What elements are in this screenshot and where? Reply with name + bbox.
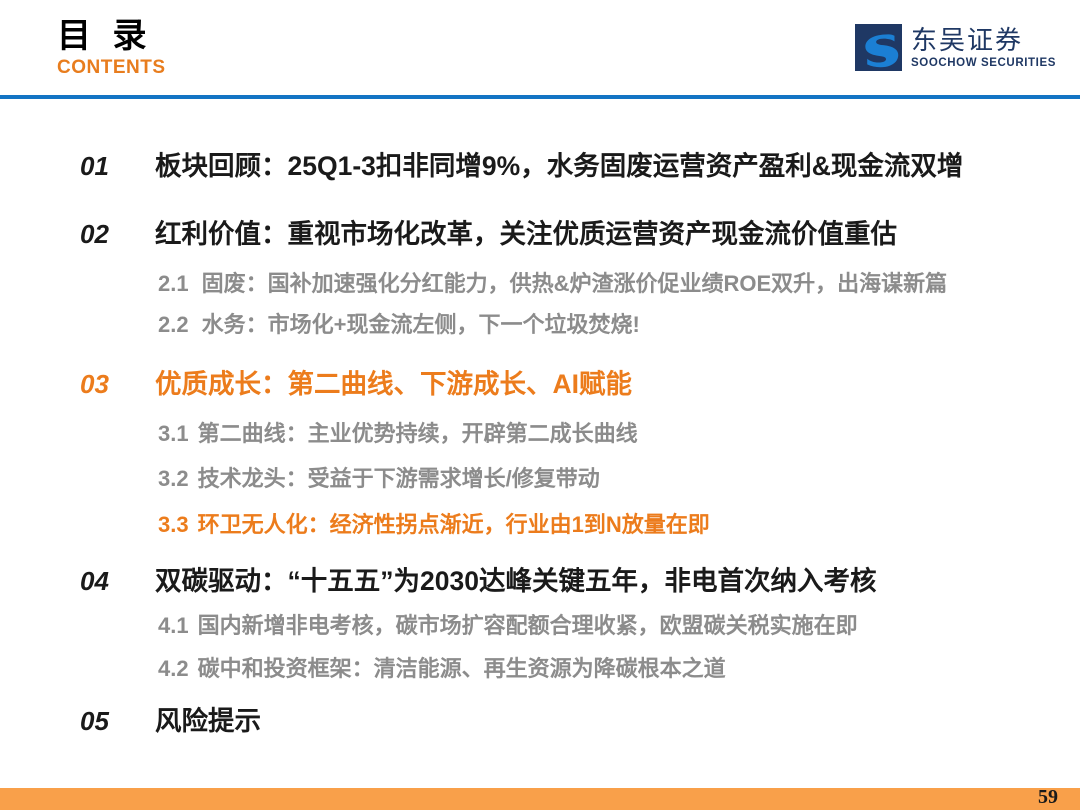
toc-subitem-4-1[interactable]: 4.1 国内新增非电考核，碳市场扩容配额合理收紧，欧盟碳关税实施在即: [158, 608, 858, 640]
toc-item-label: 板块回顾：25Q1-3扣非同增9%，水务固废运营资产盈利&现金流双增: [155, 144, 963, 183]
toc-subitem-label: 第二曲线：主业优势持续，开辟第二成长曲线: [198, 416, 638, 448]
page-number: 59: [1038, 786, 1058, 809]
toc-subitem-number: 4.1: [158, 613, 189, 639]
toc-item-label: 优质成长：第二曲线、下游成长、AI赋能: [155, 362, 632, 401]
toc-subitem-label: 固废：国补加速强化分红能力，供热&炉渣涨价促业绩ROE双升，出海谋新篇: [202, 266, 948, 298]
toc-subitem-3-1[interactable]: 3.1 第二曲线：主业优势持续，开辟第二成长曲线: [158, 416, 638, 448]
toc-subitem-number: 4.2: [158, 656, 189, 682]
toc-item-number: 02: [80, 219, 155, 250]
toc-item-01[interactable]: 01 板块回顾：25Q1-3扣非同增9%，水务固废运营资产盈利&现金流双增: [80, 144, 963, 183]
brand-logo-text: 东吴证券 SOOCHOW SECURITIES: [911, 26, 1056, 70]
brand-name-en: SOOCHOW SECURITIES: [911, 56, 1056, 70]
toc-subitem-2-1[interactable]: 2.1 固废：国补加速强化分红能力，供热&炉渣涨价促业绩ROE双升，出海谋新篇: [158, 266, 947, 298]
toc-item-05[interactable]: 05 风险提示: [80, 699, 261, 738]
toc-item-03[interactable]: 03 优质成长：第二曲线、下游成长、AI赋能: [80, 362, 632, 401]
header-divider: [0, 95, 1080, 99]
toc-subitem-number: 2.2: [158, 312, 189, 338]
toc-subitem-3-3[interactable]: 3.3 环卫无人化：经济性拐点渐近，行业由1到N放量在即: [158, 507, 710, 539]
toc-subitem-label: 国内新增非电考核，碳市场扩容配额合理收紧，欧盟碳关税实施在即: [198, 608, 858, 640]
toc-subitem-3-2[interactable]: 3.2 技术龙头：受益于下游需求增长/修复带动: [158, 461, 600, 493]
soochow-logo-icon: [855, 24, 902, 71]
toc-item-number: 05: [80, 706, 155, 737]
toc-subitem-label: 技术龙头：受益于下游需求增长/修复带动: [198, 461, 600, 493]
toc-subitem-number: 2.1: [158, 271, 189, 297]
toc-item-label: 风险提示: [155, 699, 261, 738]
slide-header: 目 录 CONTENTS 东吴证券 SOOCHOW SECURITIES: [0, 0, 1080, 100]
page-title-block: 目 录 CONTENTS: [57, 16, 166, 79]
toc-subitem-label: 水务：市场化+现金流左侧，下一个垃圾焚烧!: [202, 307, 640, 339]
page-subtitle: CONTENTS: [57, 57, 166, 79]
toc-item-label: 红利价值：重视市场化改革，关注优质运营资产现金流价值重估: [155, 212, 897, 251]
brand-name-cn: 东吴证券: [911, 26, 1056, 54]
footer-bar: [0, 788, 1080, 810]
toc-subitem-number: 3.2: [158, 466, 189, 492]
toc-subitem-number: 3.3: [158, 512, 189, 538]
toc-subitem-number: 3.1: [158, 421, 189, 447]
toc-item-number: 01: [80, 151, 155, 182]
page-title: 目 录: [57, 16, 166, 56]
slide-root: 目 录 CONTENTS 东吴证券 SOOCHOW SECURITIES 01 …: [0, 0, 1080, 810]
brand-logo: 东吴证券 SOOCHOW SECURITIES: [855, 24, 1056, 71]
toc-item-number: 03: [80, 369, 155, 400]
toc-subitem-label: 环卫无人化：经济性拐点渐近，行业由1到N放量在即: [198, 507, 710, 539]
toc-item-label: 双碳驱动：“十五五”为2030达峰关键五年，非电首次纳入考核: [155, 559, 876, 598]
toc-subitem-2-2[interactable]: 2.2 水务：市场化+现金流左侧，下一个垃圾焚烧!: [158, 307, 640, 339]
toc-item-02[interactable]: 02 红利价值：重视市场化改革，关注优质运营资产现金流价值重估: [80, 212, 897, 251]
toc-subitem-4-2[interactable]: 4.2 碳中和投资框架：清洁能源、再生资源为降碳根本之道: [158, 651, 726, 683]
toc-item-04[interactable]: 04 双碳驱动：“十五五”为2030达峰关键五年，非电首次纳入考核: [80, 559, 876, 598]
toc-subitem-label: 碳中和投资框架：清洁能源、再生资源为降碳根本之道: [198, 651, 726, 683]
toc-item-number: 04: [80, 566, 155, 597]
